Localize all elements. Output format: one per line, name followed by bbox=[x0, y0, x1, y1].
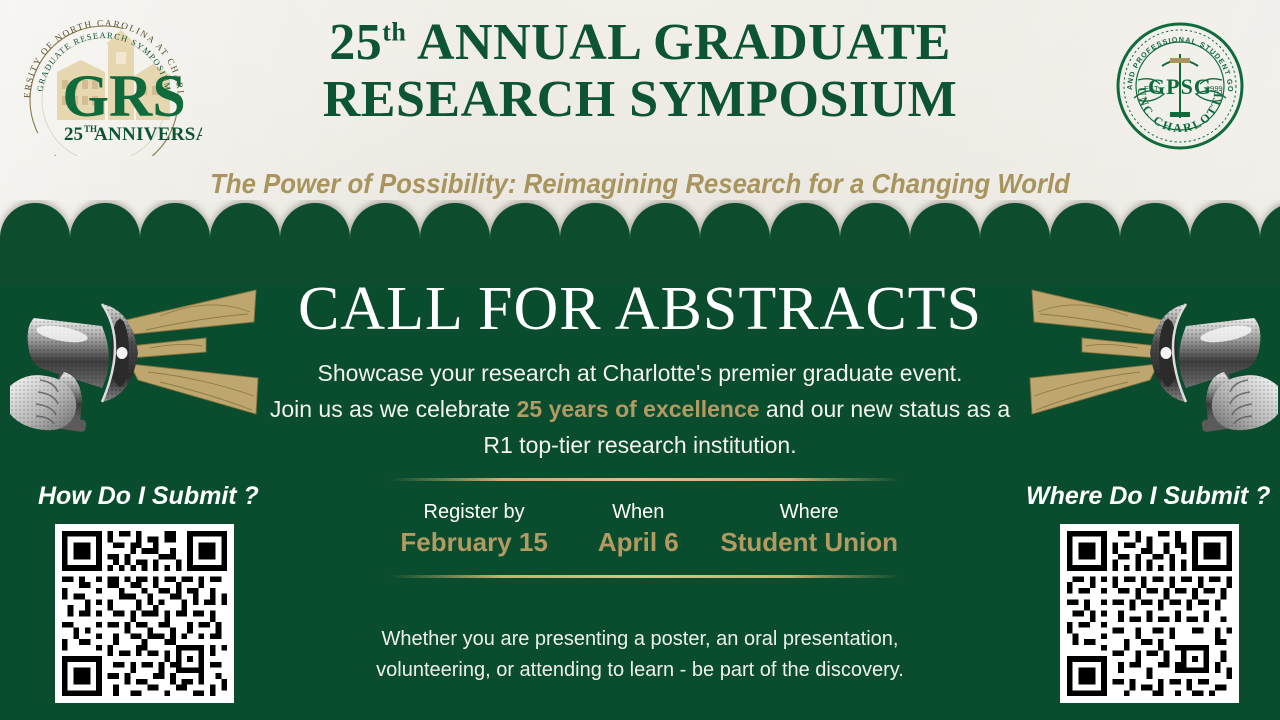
intro-line-2: Join us as we celebrate 25 years of exce… bbox=[210, 391, 1070, 427]
qr-code-where-to-submit[interactable] bbox=[1060, 524, 1239, 703]
call-for-abstracts-heading: CALL FOR ABSTRACTS bbox=[230, 278, 1050, 340]
title-line-2: RESEARCH SYMPOSIUM bbox=[240, 71, 1040, 128]
qr-code-icon[interactable] bbox=[62, 531, 227, 696]
closing-line-2: volunteering, or attending to learn - be… bbox=[300, 655, 980, 686]
info-label: Where bbox=[720, 499, 898, 525]
info-value: April 6 bbox=[556, 525, 720, 559]
qr-code-icon[interactable] bbox=[1067, 531, 1232, 696]
poster-canvas: UNIVERSITY OF NORTH CAROLINA AT CHARLOTT… bbox=[0, 0, 1280, 720]
closing-paragraph: Whether you are presenting a poster, an … bbox=[300, 624, 980, 686]
intro-line-3: R1 top-tier research institution. bbox=[210, 427, 1070, 463]
title-ordinal-number: 25 bbox=[329, 14, 382, 71]
intro-highlight: 25 years of excellence bbox=[517, 396, 760, 422]
how-do-i-submit-label: How Do I Submit ? bbox=[38, 482, 259, 511]
event-info-band: Register by February 15 When April 6 Whe… bbox=[390, 478, 900, 578]
grs-anniv-number: 25 bbox=[64, 124, 83, 145]
gpsg-logo: GPSG EST 1999 GRADUATE AND PROFESSIONAL … bbox=[1108, 14, 1252, 158]
info-label: When bbox=[556, 499, 720, 525]
scalloped-divider bbox=[0, 200, 1280, 284]
intro-line-1: Showcase your research at Charlotte's pr… bbox=[210, 355, 1070, 391]
info-value: February 15 bbox=[392, 525, 556, 559]
where-do-i-submit-label: Where Do I Submit ? bbox=[1026, 482, 1270, 511]
tagline: The Power of Possibility: Reimagining Re… bbox=[88, 168, 1192, 200]
info-col-where: Where Student Union bbox=[720, 499, 898, 559]
info-row: Register by February 15 When April 6 Whe… bbox=[390, 481, 900, 575]
info-value: Student Union bbox=[720, 525, 898, 559]
closing-line-1: Whether you are presenting a poster, an … bbox=[300, 624, 980, 655]
info-col-when: When April 6 bbox=[556, 499, 720, 559]
divider-bottom bbox=[390, 575, 900, 578]
grs-logo: UNIVERSITY OF NORTH CAROLINA AT CHARLOTT… bbox=[12, 4, 202, 156]
page-title: 25th ANNUAL GRADUATE RESEARCH SYMPOSIUM bbox=[240, 14, 1040, 128]
title-line-1-rest: ANNUAL GRADUATE bbox=[406, 14, 950, 71]
intro-paragraph: Showcase your research at Charlotte's pr… bbox=[210, 355, 1070, 463]
intro-line-2-post: and our new status as a bbox=[760, 396, 1011, 422]
grs-monogram: GRS bbox=[62, 63, 185, 129]
intro-line-2-pre: Join us as we celebrate bbox=[270, 396, 517, 422]
grs-anniv-word: ANNIVERSARY bbox=[94, 124, 202, 145]
qr-code-how-to-submit[interactable] bbox=[55, 524, 234, 703]
info-col-register-by: Register by February 15 bbox=[392, 499, 556, 559]
title-line-1: 25th ANNUAL GRADUATE bbox=[240, 14, 1040, 71]
title-ordinal-suffix: th bbox=[382, 18, 406, 47]
info-label: Register by bbox=[392, 499, 556, 525]
